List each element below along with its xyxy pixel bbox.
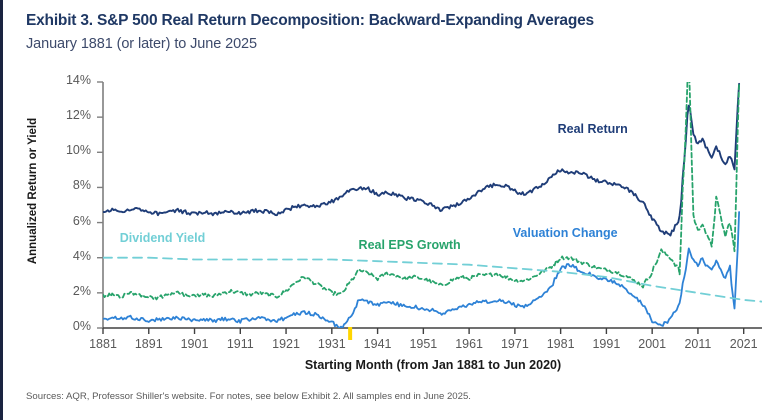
y-tick-label: 14% xyxy=(47,73,91,87)
x-tick-label: 1931 xyxy=(309,337,355,351)
series-annotation-valuation-change: Valuation Change xyxy=(513,226,618,240)
x-tick-label: 1991 xyxy=(583,337,629,351)
series-line-real-return xyxy=(103,84,739,236)
chart-plot-area xyxy=(0,0,780,420)
x-tick-label: 2011 xyxy=(675,337,721,351)
series-line-valuation-change xyxy=(103,212,739,328)
x-tick-label: 1901 xyxy=(172,337,218,351)
series-annotation-real-return: Real Return xyxy=(558,122,628,136)
series-annotation-real-eps-growth: Real EPS Growth xyxy=(359,238,461,252)
x-tick-label: 1971 xyxy=(492,337,538,351)
x-tick-label: 2001 xyxy=(629,337,675,351)
x-tick-label: 1921 xyxy=(263,337,309,351)
x-tick-label: 1951 xyxy=(400,337,446,351)
y-tick-label: 4% xyxy=(47,249,91,263)
series-line-dividend-yield xyxy=(103,258,762,302)
y-tick-label: 2% xyxy=(47,284,91,298)
x-tick-label: 1891 xyxy=(126,337,172,351)
y-tick-label: 8% xyxy=(47,178,91,192)
x-tick-label: 1911 xyxy=(217,337,263,351)
y-tick-label: 10% xyxy=(47,143,91,157)
series-annotation-dividend-yield: Dividend Yield xyxy=(120,231,205,245)
y-tick-label: 6% xyxy=(47,214,91,228)
x-tick-label: 1881 xyxy=(80,337,126,351)
x-tick-label: 1961 xyxy=(446,337,492,351)
x-tick-label: 1941 xyxy=(355,337,401,351)
x-tick-label: 2021 xyxy=(721,337,767,351)
y-tick-label: 12% xyxy=(47,108,91,122)
y-tick-label: 0% xyxy=(47,319,91,333)
source-note: Sources: AQR, Professor Shiller's websit… xyxy=(26,391,471,402)
x-tick-label: 1981 xyxy=(538,337,584,351)
